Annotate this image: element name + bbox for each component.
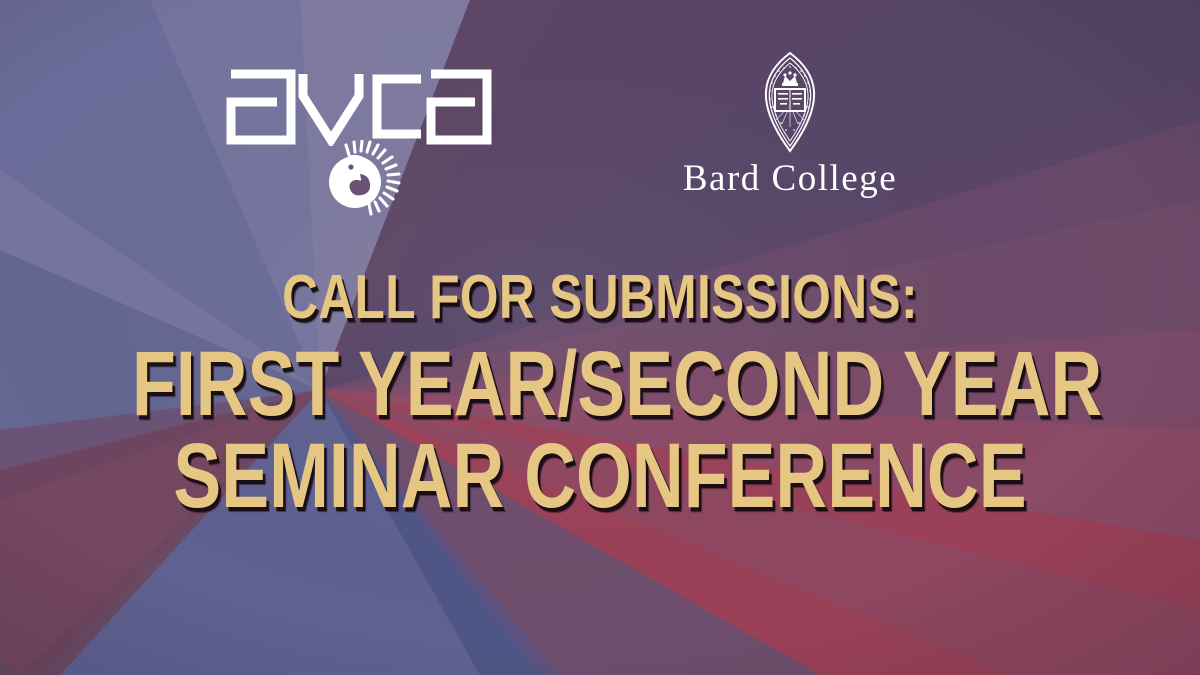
- phoenix-bird-emblem: [318, 140, 404, 216]
- bard-college-wordmark: Bard College: [660, 160, 920, 197]
- bard-college-logo: Bard College: [660, 50, 920, 210]
- auca-wordmark: [225, 62, 493, 146]
- headline-kicker: CALL FOR SUBMISSIONS:: [120, 268, 1080, 328]
- headline-line-1: FIRST YEAR/SECOND YEAR: [132, 340, 1068, 428]
- logo-band: Bard College: [0, 0, 1200, 230]
- headline-line-2: SEMINAR CONFERENCE: [132, 432, 1068, 520]
- headline-block: CALL FOR SUBMISSIONS: FIRST YEAR/SECOND …: [0, 268, 1200, 524]
- auca-logo: [225, 62, 495, 212]
- bard-college-seal: [742, 50, 838, 154]
- poster-canvas: Bard College CALL FOR SUBMISSIONS: FIRST…: [0, 0, 1200, 675]
